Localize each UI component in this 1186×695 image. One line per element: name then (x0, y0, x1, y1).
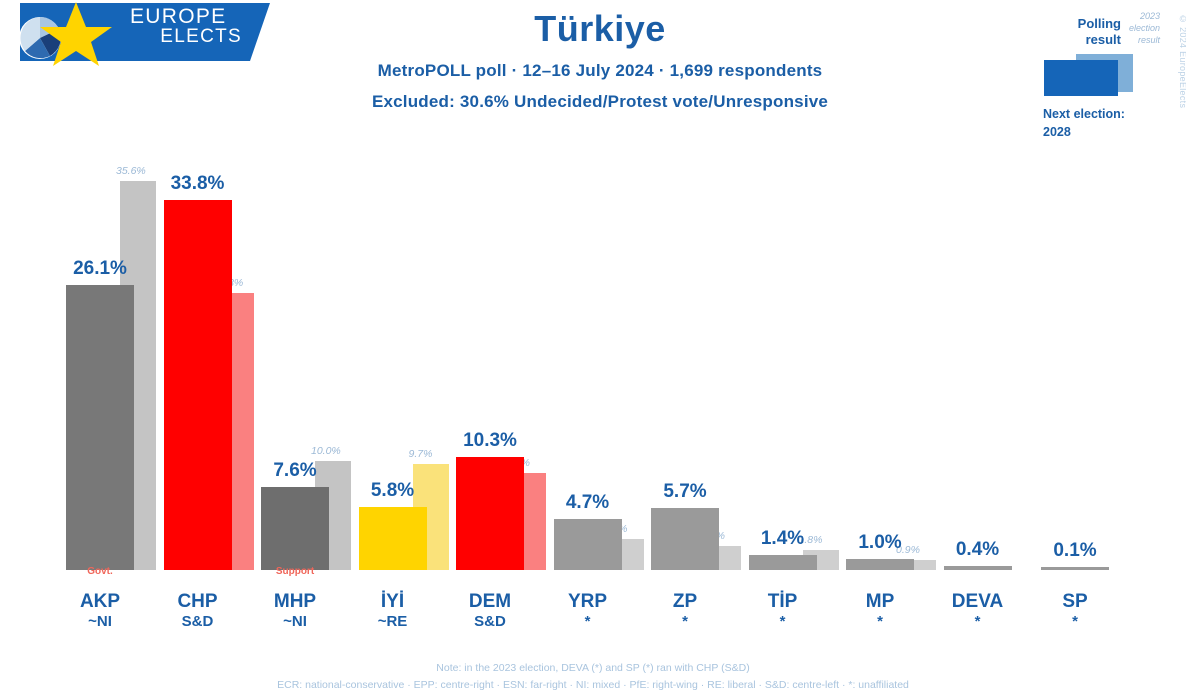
legend-election-label: 2023 election result (1115, 10, 1160, 46)
party-group-yrp: * (538, 613, 638, 631)
party-group-zp: * (635, 613, 735, 631)
party-group-ti̇p: * (733, 613, 833, 631)
x-tick-dem: ·DEMS&D (440, 565, 540, 631)
party-tag-deva: · (928, 565, 1028, 579)
x-tick-zp: ·ZP* (635, 565, 735, 631)
value-polling-i̇yi̇: 5.8% (353, 480, 433, 502)
party-tag-ti̇p: · (733, 565, 833, 579)
legend-election-line-1: 2023 (1115, 10, 1160, 22)
value-polling-zp: 5.7% (645, 481, 725, 503)
legend-polling-line-2: result (1041, 32, 1121, 48)
chart-legend: Polling result 2023 election result Next… (1028, 8, 1178, 148)
logo-pie-star-icon (8, 0, 128, 66)
party-name-zp: ZP (635, 591, 735, 613)
bar-chart: 35.6%26.1%25.3%33.8%10.0%7.6%9.7%5.8%8.9… (0, 150, 1186, 570)
x-tick-mhp: SupportMHP~NI (245, 565, 345, 631)
party-name-sp: SP (1025, 591, 1125, 613)
value-polling-akp: 26.1% (60, 258, 140, 280)
bar-polling-dem (456, 457, 524, 570)
value-polling-ti̇p: 1.4% (743, 528, 823, 550)
party-tag-mhp: Support (245, 565, 345, 579)
party-name-ti̇p: TİP (733, 591, 833, 613)
party-name-dem: DEM (440, 591, 540, 613)
footer-note: Note: in the 2023 election, DEVA (*) and… (0, 662, 1186, 674)
party-name-mhp: MHP (245, 591, 345, 613)
x-tick-i̇yi̇: ·İYİ~RE (343, 565, 443, 631)
bar-polling-i̇yi̇ (359, 507, 427, 570)
legend-polling-swatch (1044, 60, 1118, 96)
value-polling-yrp: 4.7% (548, 492, 628, 514)
legend-polling-line-1: Polling (1041, 16, 1121, 32)
value-polling-deva: 0.4% (938, 539, 1018, 561)
copyright-text: © 2024 EuropeElects (1178, 14, 1186, 108)
logo-line-2: ELECTS (130, 27, 260, 46)
bar-polling-chp (164, 200, 232, 570)
next-election-info: Next election: 2028 (1043, 105, 1173, 141)
party-name-yrp: YRP (538, 591, 638, 613)
bar-polling-yrp (554, 519, 622, 570)
party-group-mhp: ~NI (245, 613, 345, 631)
legend-election-line-2: election (1115, 22, 1160, 34)
x-tick-chp: ·CHPS&D (148, 565, 248, 631)
value-2023-akp: 35.6% (116, 165, 146, 177)
legend-election-line-3: result (1115, 34, 1160, 46)
value-polling-sp: 0.1% (1035, 540, 1115, 562)
party-tag-mp: · (830, 565, 930, 579)
party-tag-i̇yi̇: · (343, 565, 443, 579)
poll-subtitle: MetroPOLL poll · 12–16 July 2024 · 1,699… (330, 61, 870, 81)
party-tag-zp: · (635, 565, 735, 579)
x-tick-ti̇p: ·TİP* (733, 565, 833, 631)
chart-x-axis: Govt.AKP~NI·CHPS&DSupportMHP~NI·İYİ~RE·D… (0, 565, 1186, 645)
party-group-i̇yi̇: ~RE (343, 613, 443, 631)
x-tick-akp: Govt.AKP~NI (50, 565, 150, 631)
party-group-chp: S&D (148, 613, 248, 631)
party-name-akp: AKP (50, 591, 150, 613)
value-2023-mhp: 10.0% (311, 445, 341, 457)
party-tag-sp: · (1025, 565, 1125, 579)
party-tag-chp: · (148, 565, 248, 579)
bar-polling-akp (66, 285, 134, 570)
party-group-dem: S&D (440, 613, 540, 631)
next-election-line-2: 2028 (1043, 123, 1173, 141)
bar-polling-zp (651, 508, 719, 570)
x-tick-yrp: ·YRP* (538, 565, 638, 631)
party-tag-dem: · (440, 565, 540, 579)
party-name-i̇yi̇: İYİ (343, 591, 443, 613)
party-name-mp: MP (830, 591, 930, 613)
chart-header: Türkiye MetroPOLL poll · 12–16 July 2024… (330, 0, 870, 112)
x-tick-deva: ·DEVA* (928, 565, 1028, 631)
excluded-subtitle: Excluded: 30.6% Undecided/Protest vote/U… (330, 92, 870, 112)
party-group-sp: * (1025, 613, 1125, 631)
value-polling-dem: 10.3% (450, 430, 530, 452)
legend-polling-label: Polling result (1041, 16, 1121, 49)
europe-elects-logo: EUROPE ELECTS (0, 0, 270, 66)
footer-legend-key: ECR: national-conservative · EPP: centre… (0, 679, 1186, 691)
value-polling-mp: 1.0% (840, 532, 920, 554)
logo-text: EUROPE ELECTS (130, 6, 260, 46)
logo-line-1: EUROPE (130, 6, 260, 27)
bar-polling-mhp (261, 487, 329, 570)
x-tick-sp: ·SP* (1025, 565, 1125, 631)
value-polling-chp: 33.8% (158, 173, 238, 195)
party-tag-yrp: · (538, 565, 638, 579)
chart-footer: Note: in the 2023 election, DEVA (*) and… (0, 662, 1186, 691)
party-name-chp: CHP (148, 591, 248, 613)
party-name-deva: DEVA (928, 591, 1028, 613)
x-tick-mp: ·MP* (830, 565, 930, 631)
next-election-line-1: Next election: (1043, 105, 1173, 123)
party-group-akp: ~NI (50, 613, 150, 631)
page-title: Türkiye (330, 8, 870, 50)
party-group-mp: * (830, 613, 930, 631)
value-2023-i̇yi̇: 9.7% (409, 448, 433, 460)
party-tag-akp: Govt. (50, 565, 150, 579)
value-polling-mhp: 7.6% (255, 460, 335, 482)
party-group-deva: * (928, 613, 1028, 631)
